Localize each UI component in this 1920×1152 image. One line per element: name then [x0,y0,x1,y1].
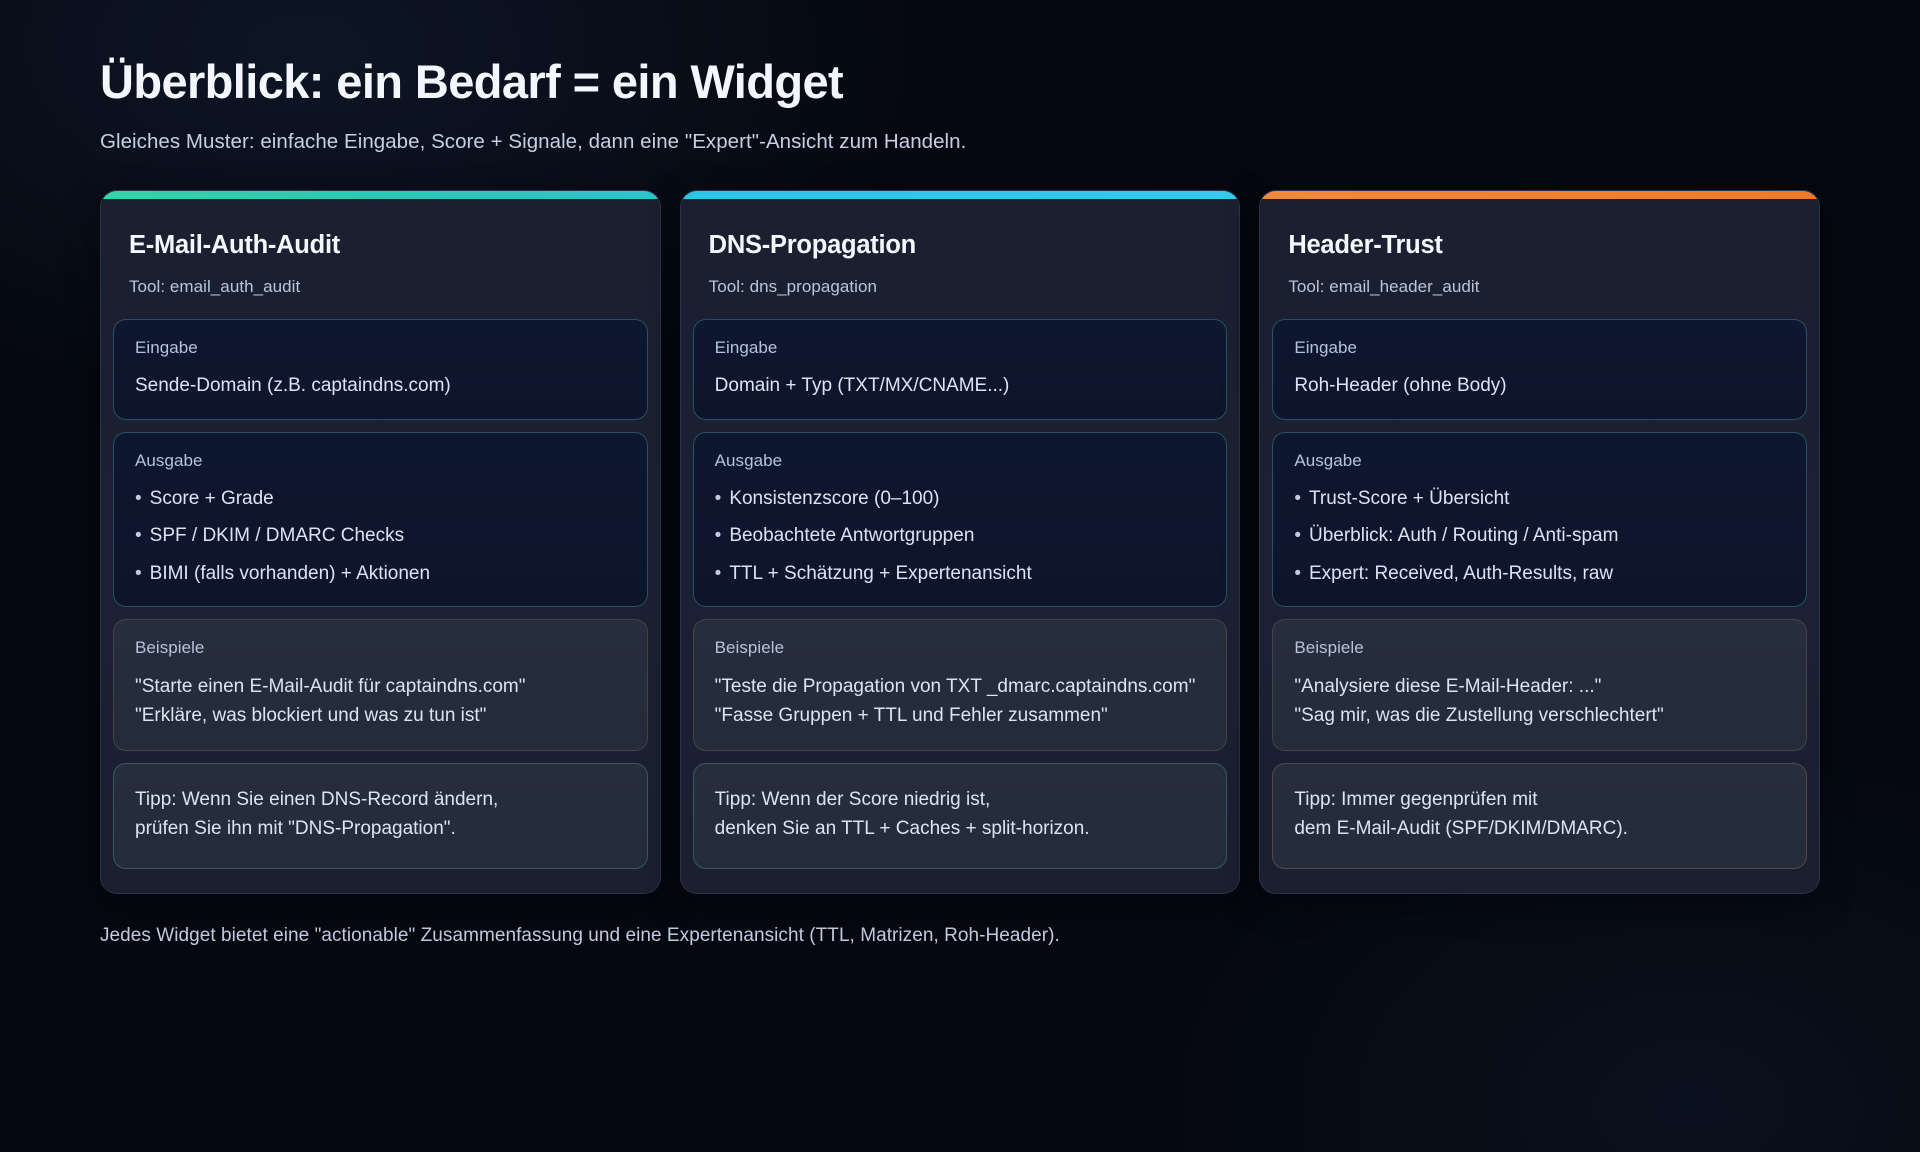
list-item: •Beobachtete Antwortgruppen [715,523,1206,549]
card-tool-name: Tool: dns_propagation [709,277,1212,297]
widget-card-header-trust[interactable]: Header-Trust Tool: email_header_audit Ei… [1259,190,1820,894]
example-phrase: "Starte einen E-Mail-Audit für captaindn… [135,673,626,702]
bullet-icon: • [135,523,142,549]
output-block: Ausgabe •Trust-Score + Übersicht •Überbl… [1272,432,1807,608]
output-list: •Score + Grade •SPF / DKIM / DMARC Check… [135,486,626,587]
output-label: Ausgabe [135,451,626,471]
card-header: DNS-Propagation Tool: dns_propagation [681,199,1240,303]
input-label: Eingabe [1294,338,1785,358]
output-label: Ausgabe [1294,451,1785,471]
tip-line: dem E-Mail-Audit (SPF/DKIM/DMARC). [1294,815,1785,844]
input-block: Eingabe Domain + Typ (TXT/MX/CNAME...) [693,319,1228,420]
input-label: Eingabe [715,338,1206,358]
examples-block: Beispiele "Teste die Propagation von TXT… [693,619,1228,751]
output-item-text: Score + Grade [150,486,274,512]
example-phrase: "Sag mir, was die Zustellung verschlecht… [1294,702,1785,731]
input-value: Domain + Typ (TXT/MX/CNAME...) [715,373,1206,399]
output-item-text: SPF / DKIM / DMARC Checks [150,523,404,549]
tip-line: prüfen Sie ihn mit "DNS-Propagation". [135,815,626,844]
examples-label: Beispiele [135,638,626,658]
tip-block: Tipp: Immer gegenprüfen mit dem E-Mail-A… [1272,763,1807,869]
bullet-icon: • [715,486,722,512]
output-item-text: BIMI (falls vorhanden) + Aktionen [150,561,430,587]
page-subtitle: Gleiches Muster: einfache Eingabe, Score… [100,128,1820,157]
tip-block: Tipp: Wenn der Score niedrig ist, denken… [693,763,1228,869]
bullet-icon: • [135,486,142,512]
example-phrase: "Erkläre, was blockiert und was zu tun i… [135,702,626,731]
tip-line: Tipp: Wenn Sie einen DNS-Record ändern, [135,786,626,815]
card-accent-bar [681,191,1240,199]
footer-note: Jedes Widget bietet eine "actionable" Zu… [100,925,1820,947]
output-label: Ausgabe [715,451,1206,471]
example-phrase: "Analysiere diese E-Mail-Header: ..." [1294,673,1785,702]
bullet-icon: • [715,561,722,587]
bullet-icon: • [1294,486,1301,512]
output-list: •Konsistenzscore (0–100) •Beobachtete An… [715,486,1206,587]
list-item: •TTL + Schätzung + Expertenansicht [715,561,1206,587]
card-body: Eingabe Sende-Domain (z.B. captaindns.co… [101,303,660,869]
page-title: Überblick: ein Bedarf = ein Widget [100,56,1820,109]
widget-card-grid: E-Mail-Auth-Audit Tool: email_auth_audit… [100,190,1820,894]
card-header: E-Mail-Auth-Audit Tool: email_auth_audit [101,199,660,303]
header: Überblick: ein Bedarf = ein Widget Gleic… [100,56,1820,156]
output-list: •Trust-Score + Übersicht •Überblick: Aut… [1294,486,1785,587]
widget-card-dns-propagation[interactable]: DNS-Propagation Tool: dns_propagation Ei… [680,190,1241,894]
card-accent-bar [101,191,660,199]
list-item: •Trust-Score + Übersicht [1294,486,1785,512]
output-item-text: Konsistenzscore (0–100) [729,486,939,512]
output-block: Ausgabe •Score + Grade •SPF / DKIM / DMA… [113,432,648,608]
card-title: E-Mail-Auth-Audit [129,230,632,261]
bullet-icon: • [1294,561,1301,587]
examples-label: Beispiele [715,638,1206,658]
tip-block: Tipp: Wenn Sie einen DNS-Record ändern, … [113,763,648,869]
tip-line: Tipp: Immer gegenprüfen mit [1294,786,1785,815]
examples-label: Beispiele [1294,638,1785,658]
input-block: Eingabe Roh-Header (ohne Body) [1272,319,1807,420]
card-accent-bar [1260,191,1819,199]
slide-root: Überblick: ein Bedarf = ein Widget Gleic… [0,0,1920,1152]
card-title: DNS-Propagation [709,230,1212,261]
list-item: •SPF / DKIM / DMARC Checks [135,523,626,549]
list-item: •Überblick: Auth / Routing / Anti-spam [1294,523,1785,549]
tip-line: Tipp: Wenn der Score niedrig ist, [715,786,1206,815]
output-item-text: Expert: Received, Auth-Results, raw [1309,561,1613,587]
examples-block: Beispiele "Starte einen E-Mail-Audit für… [113,619,648,751]
output-item-text: TTL + Schätzung + Expertenansicht [729,561,1031,587]
output-item-text: Trust-Score + Übersicht [1309,486,1509,512]
example-phrase: "Teste die Propagation von TXT _dmarc.ca… [715,673,1206,702]
output-block: Ausgabe •Konsistenzscore (0–100) •Beobac… [693,432,1228,608]
list-item: •Expert: Received, Auth-Results, raw [1294,561,1785,587]
card-header: Header-Trust Tool: email_header_audit [1260,199,1819,303]
card-body: Eingabe Roh-Header (ohne Body) Ausgabe •… [1260,303,1819,869]
bullet-icon: • [135,561,142,587]
tip-line: denken Sie an TTL + Caches + split-horiz… [715,815,1206,844]
output-item-text: Beobachtete Antwortgruppen [729,523,974,549]
input-value: Roh-Header (ohne Body) [1294,373,1785,399]
list-item: •Konsistenzscore (0–100) [715,486,1206,512]
bullet-icon: • [715,523,722,549]
card-tool-name: Tool: email_header_audit [1288,277,1791,297]
input-value: Sende-Domain (z.B. captaindns.com) [135,373,626,399]
examples-block: Beispiele "Analysiere diese E-Mail-Heade… [1272,619,1807,751]
list-item: •Score + Grade [135,486,626,512]
input-block: Eingabe Sende-Domain (z.B. captaindns.co… [113,319,648,420]
list-item: •BIMI (falls vorhanden) + Aktionen [135,561,626,587]
input-label: Eingabe [135,338,626,358]
example-phrase: "Fasse Gruppen + TTL und Fehler zusammen… [715,702,1206,731]
bullet-icon: • [1294,523,1301,549]
widget-card-email-auth-audit[interactable]: E-Mail-Auth-Audit Tool: email_auth_audit… [100,190,661,894]
card-tool-name: Tool: email_auth_audit [129,277,632,297]
card-title: Header-Trust [1288,230,1791,261]
card-body: Eingabe Domain + Typ (TXT/MX/CNAME...) A… [681,303,1240,869]
output-item-text: Überblick: Auth / Routing / Anti-spam [1309,523,1618,549]
